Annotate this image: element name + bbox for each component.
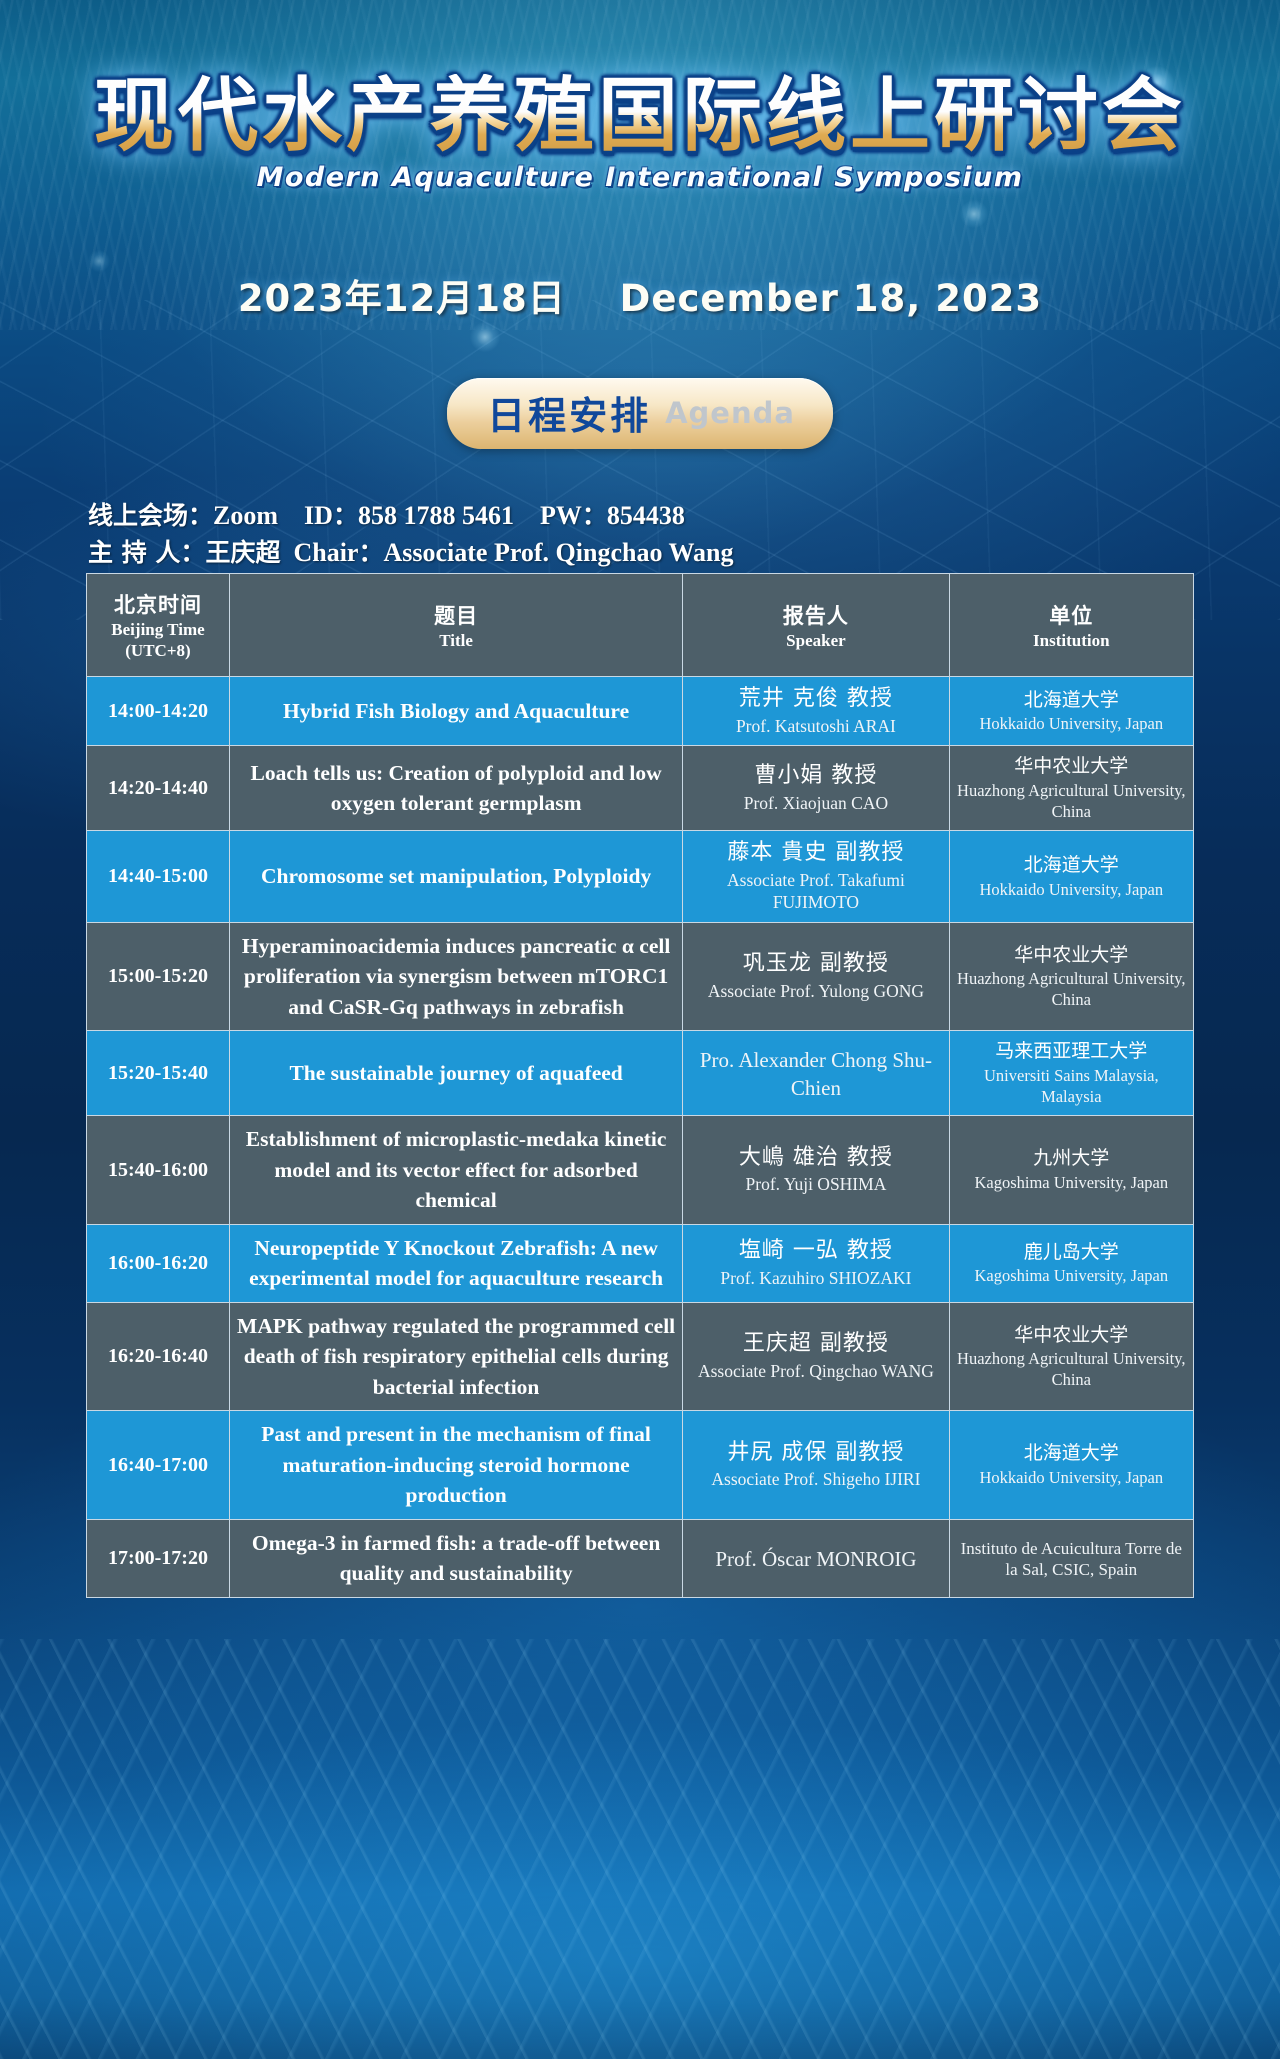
agenda-row: 15:00-15:20Hyperaminoacidemia induces pa…: [87, 922, 1194, 1031]
zoom-pw-value: 854438: [607, 501, 685, 530]
institution-name-cn: 华中农业大学: [956, 754, 1187, 779]
institution-name-cn: 华中农业大学: [956, 943, 1187, 968]
cell-title: Omega-3 in farmed fish: a trade-off betw…: [229, 1519, 682, 1597]
column-header-institution-cn: 单位: [956, 600, 1187, 630]
institution-name-cn: 北海道大学: [956, 688, 1187, 713]
event-date-chinese: 2023年12月18日: [238, 277, 566, 320]
agenda-badge-english: Agenda: [665, 396, 795, 430]
chair-name-chinese: 王庆超: [205, 538, 280, 567]
column-header-institution: 单位 Institution: [949, 574, 1193, 677]
chair-label-chinese: 主 持 人: [88, 538, 180, 567]
cell-speaker: 塩崎 一弘 教授Prof. Kazuhiro SHIOZAKI: [683, 1224, 949, 1302]
institution-name-en: Hokkaido University, Japan: [956, 880, 1187, 901]
cell-title: Loach tells us: Creation of polyploid an…: [229, 746, 682, 831]
cell-speaker: 荒井 克俊 教授Prof. Katsutoshi ARAI: [683, 677, 949, 746]
agenda-row: 16:00-16:20Neuropeptide Y Knockout Zebra…: [87, 1224, 1194, 1302]
column-header-title-cn: 题目: [236, 600, 676, 630]
agenda-table: 北京时间 Beijing Time (UTC+8) 题目 Title 报告人 S…: [86, 573, 1194, 1598]
chair-name-english: Associate Prof. Qingchao Wang: [383, 538, 733, 567]
cell-institution: 华中农业大学Huazhong Agricultural University, …: [949, 746, 1193, 831]
agenda-row: 15:20-15:40The sustainable journey of aq…: [87, 1031, 1194, 1116]
agenda-table-wrapper: 北京时间 Beijing Time (UTC+8) 题目 Title 报告人 S…: [86, 573, 1194, 1598]
speaker-name-cn: 荒井 克俊 教授: [689, 685, 942, 714]
institution-name-en: Instituto de Acuicultura Torre de la Sal…: [956, 1538, 1187, 1581]
speaker-name-cn: 藤本 貴史 副教授: [689, 839, 942, 868]
column-header-time-en: Beijing Time: [93, 620, 223, 640]
title-english: Modern Aquaculture International Symposi…: [0, 162, 1280, 193]
agenda-row: 15:40-16:00Establishment of microplastic…: [87, 1116, 1194, 1225]
speaker-name-en: Prof. Óscar MONROIG: [689, 1545, 942, 1573]
institution-name-cn: 鹿儿岛大学: [956, 1240, 1187, 1265]
venue-line: 线上会场：ZoomID：858 1788 5461PW：854438: [88, 498, 1188, 535]
chair-line: 主 持 人：王庆超 Chair：Associate Prof. Qingchao…: [88, 535, 1188, 572]
meeting-meta-block: 线上会场：ZoomID：858 1788 5461PW：854438 主 持 人…: [88, 498, 1188, 572]
cell-time: 15:20-15:40: [87, 1031, 230, 1116]
cell-time: 16:40-17:00: [87, 1411, 230, 1520]
cell-time: 14:20-14:40: [87, 746, 230, 831]
cell-speaker: 曹小娟 教授Prof. Xiaojuan CAO: [683, 746, 949, 831]
speaker-name-en: Associate Prof. Yulong GONG: [689, 981, 942, 1003]
agenda-row: 16:40-17:00Past and present in the mecha…: [87, 1411, 1194, 1520]
column-header-title: 题目 Title: [229, 574, 682, 677]
institution-name-cn: 北海道大学: [956, 853, 1187, 878]
column-header-title-en: Title: [236, 631, 676, 651]
agenda-badge: 日程安排 Agenda: [447, 378, 833, 449]
cell-speaker: Pro. Alexander Chong Shu-Chien: [683, 1031, 949, 1116]
speaker-name-en: Prof. Yuji OSHIMA: [689, 1174, 942, 1196]
column-header-time: 北京时间 Beijing Time (UTC+8): [87, 574, 230, 677]
cell-time: 14:00-14:20: [87, 677, 230, 746]
zoom-id-value: 858 1788 5461: [358, 501, 514, 530]
event-date-english: December 18, 2023: [620, 277, 1043, 320]
cell-title: Neuropeptide Y Knockout Zebrafish: A new…: [229, 1224, 682, 1302]
speaker-name-cn: 巩玉龙 副教授: [689, 950, 942, 979]
speaker-name-en: Prof. Katsutoshi ARAI: [689, 716, 942, 738]
venue-label: 线上会场: [88, 501, 188, 530]
institution-name-cn: 北海道大学: [956, 1441, 1187, 1466]
speaker-name-en: Prof. Kazuhiro SHIOZAKI: [689, 1268, 942, 1290]
water-texture-bottom: [0, 1639, 1280, 2059]
cell-title: Hyperaminoacidemia induces pancreatic α …: [229, 922, 682, 1031]
venue-value: Zoom: [213, 501, 278, 530]
cell-institution: 北海道大学Hokkaido University, Japan: [949, 677, 1193, 746]
speaker-name-en: Associate Prof. Shigeho IJIRI: [689, 1469, 942, 1491]
zoom-pw-label: PW: [540, 501, 582, 530]
speaker-name-en: Prof. Xiaojuan CAO: [689, 793, 942, 815]
agenda-row: 16:20-16:40MAPK pathway regulated the pr…: [87, 1302, 1194, 1411]
cell-institution: 华中农业大学Huazhong Agricultural University, …: [949, 1302, 1193, 1411]
speaker-name-cn: 塩崎 一弘 教授: [689, 1237, 942, 1266]
cell-speaker: 藤本 貴史 副教授Associate Prof. Takafumi FUJIMO…: [683, 831, 949, 922]
institution-name-en: Kagoshima University, Japan: [956, 1266, 1187, 1287]
agenda-row: 14:20-14:40Loach tells us: Creation of p…: [87, 746, 1194, 831]
agenda-badge-chinese: 日程安排: [487, 385, 651, 440]
column-header-speaker-en: Speaker: [689, 631, 942, 651]
cell-institution: 北海道大学Hokkaido University, Japan: [949, 831, 1193, 922]
cell-title: The sustainable journey of aquafeed: [229, 1031, 682, 1116]
cell-title: Chromosome set manipulation, Polyploidy: [229, 831, 682, 922]
cell-institution: 九州大学Kagoshima University, Japan: [949, 1116, 1193, 1225]
agenda-table-body: 14:00-14:20Hybrid Fish Biology and Aquac…: [87, 677, 1194, 1598]
agenda-badge-wrapper: 日程安排 Agenda: [0, 378, 1280, 449]
speaker-name-cn: 大嶋 雄治 教授: [689, 1144, 942, 1173]
cell-time: 15:00-15:20: [87, 922, 230, 1031]
title-chinese: 现代水产养殖国际线上研讨会: [0, 74, 1280, 158]
speaker-name-cn: 井尻 成保 副教授: [689, 1439, 942, 1468]
cell-title: Establishment of microplastic-medaka kin…: [229, 1116, 682, 1225]
cell-speaker: Prof. Óscar MONROIG: [683, 1519, 949, 1597]
speaker-name-cn: 王庆超 副教授: [689, 1330, 942, 1359]
cell-institution: 华中农业大学Huazhong Agricultural University, …: [949, 922, 1193, 1031]
institution-name-en: Huazhong Agricultural University, China: [956, 781, 1187, 822]
speaker-name-en: Associate Prof. Qingchao WANG: [689, 1361, 942, 1383]
agenda-row: 17:00-17:20Omega-3 in farmed fish: a tra…: [87, 1519, 1194, 1597]
chair-label-english: Chair: [293, 538, 358, 567]
speaker-name-en: Associate Prof. Takafumi FUJIMOTO: [689, 870, 942, 914]
institution-name-cn: 马来西亚理工大学: [956, 1039, 1187, 1064]
cell-time: 17:00-17:20: [87, 1519, 230, 1597]
agenda-row: 14:40-15:00Chromosome set manipulation, …: [87, 831, 1194, 922]
column-header-time-cn: 北京时间: [93, 589, 223, 619]
cell-institution: 鹿儿岛大学Kagoshima University, Japan: [949, 1224, 1193, 1302]
institution-name-en: Huazhong Agricultural University, China: [956, 1349, 1187, 1390]
cell-title: Hybrid Fish Biology and Aquaculture: [229, 677, 682, 746]
speaker-name-en: Pro. Alexander Chong Shu-Chien: [689, 1046, 942, 1103]
network-pattern-layer: [0, 300, 1280, 620]
cell-speaker: 井尻 成保 副教授Associate Prof. Shigeho IJIRI: [683, 1411, 949, 1520]
institution-name-cn: 华中农业大学: [956, 1323, 1187, 1348]
institution-name-en: Universiti Sains Malaysia, Malaysia: [956, 1066, 1187, 1107]
cell-time: 15:40-16:00: [87, 1116, 230, 1225]
cell-title: Past and present in the mechanism of fin…: [229, 1411, 682, 1520]
cell-time: 14:40-15:00: [87, 831, 230, 922]
cell-institution: 马来西亚理工大学Universiti Sains Malaysia, Malay…: [949, 1031, 1193, 1116]
column-header-time-utc: (UTC+8): [93, 641, 223, 661]
cell-time: 16:00-16:20: [87, 1224, 230, 1302]
event-date-row: 2023年12月18日 December 18, 2023: [0, 268, 1280, 322]
poster-title-block: 现代水产养殖国际线上研讨会 Modern Aquaculture Interna…: [0, 74, 1280, 193]
cell-speaker: 大嶋 雄治 教授Prof. Yuji OSHIMA: [683, 1116, 949, 1225]
institution-name-cn: 九州大学: [956, 1146, 1187, 1171]
institution-name-en: Huazhong Agricultural University, China: [956, 969, 1187, 1010]
cell-institution: Instituto de Acuicultura Torre de la Sal…: [949, 1519, 1193, 1597]
poster-root: 现代水产养殖国际线上研讨会 Modern Aquaculture Interna…: [0, 0, 1280, 2059]
institution-name-en: Hokkaido University, Japan: [956, 714, 1187, 735]
cell-speaker: 王庆超 副教授Associate Prof. Qingchao WANG: [683, 1302, 949, 1411]
institution-name-en: Hokkaido University, Japan: [956, 1468, 1187, 1489]
agenda-row: 14:00-14:20Hybrid Fish Biology and Aquac…: [87, 677, 1194, 746]
agenda-header-row: 北京时间 Beijing Time (UTC+8) 题目 Title 报告人 S…: [87, 574, 1194, 677]
cell-time: 16:20-16:40: [87, 1302, 230, 1411]
cell-title: MAPK pathway regulated the programmed ce…: [229, 1302, 682, 1411]
column-header-speaker: 报告人 Speaker: [683, 574, 949, 677]
agenda-table-head: 北京时间 Beijing Time (UTC+8) 题目 Title 报告人 S…: [87, 574, 1194, 677]
cell-speaker: 巩玉龙 副教授Associate Prof. Yulong GONG: [683, 922, 949, 1031]
institution-name-en: Kagoshima University, Japan: [956, 1173, 1187, 1194]
zoom-id-label: ID: [304, 501, 333, 530]
speaker-name-cn: 曹小娟 教授: [689, 762, 942, 791]
column-header-speaker-cn: 报告人: [689, 600, 942, 630]
cell-institution: 北海道大学Hokkaido University, Japan: [949, 1411, 1193, 1520]
column-header-institution-en: Institution: [956, 631, 1187, 651]
